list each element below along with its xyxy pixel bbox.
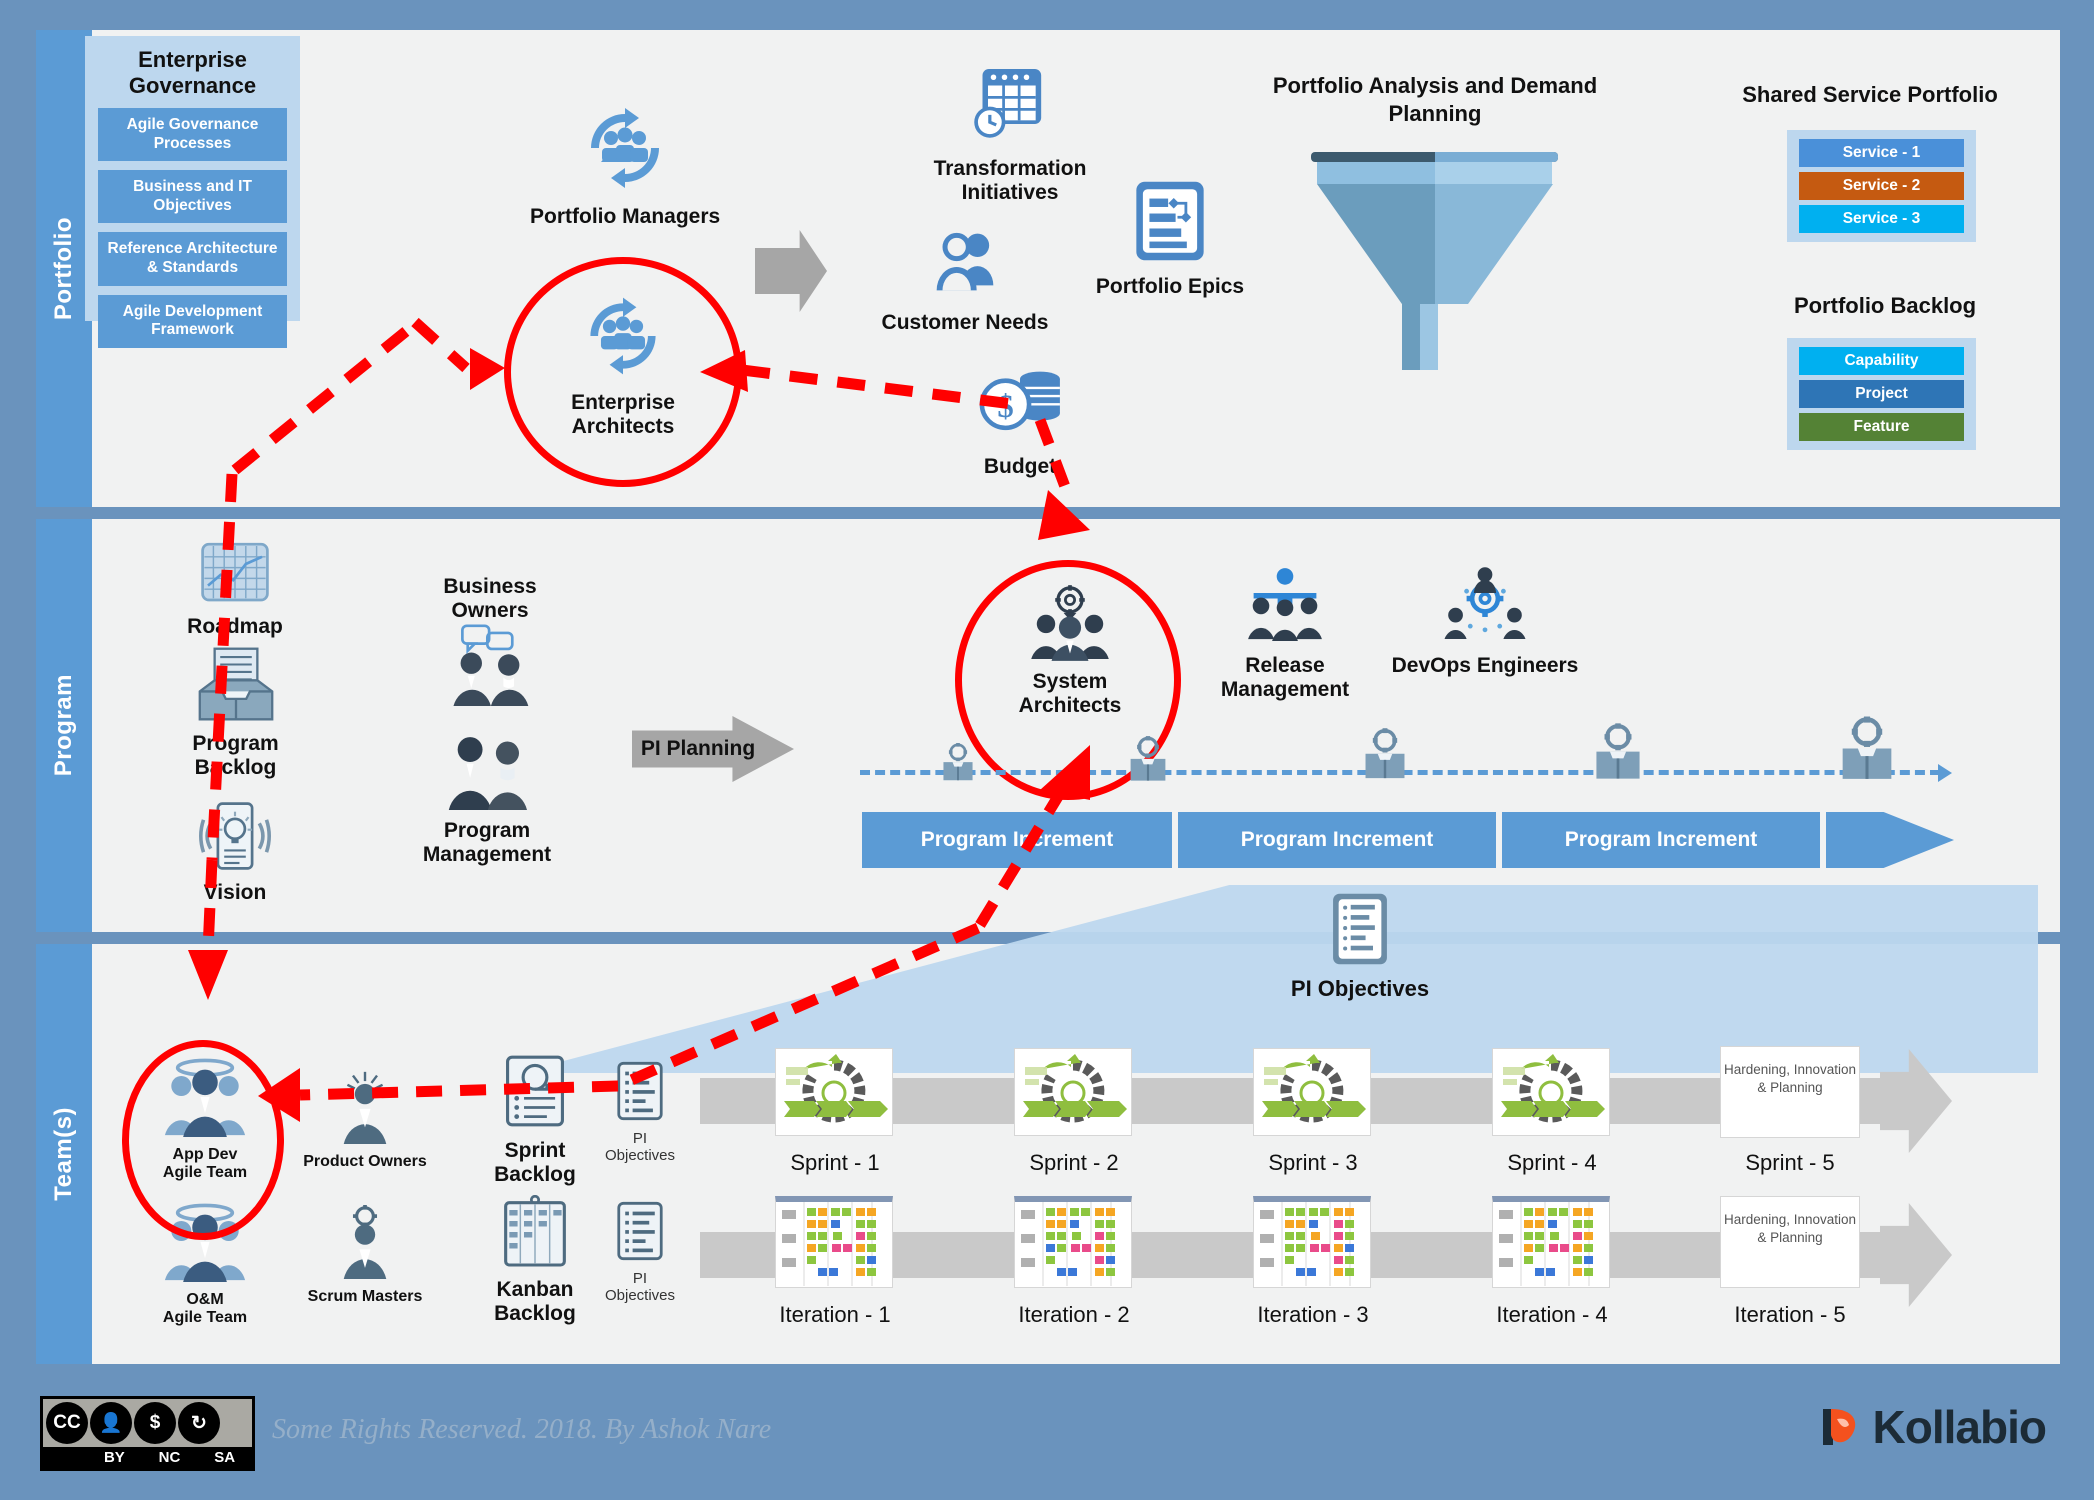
release-marker-2 (1115, 735, 1181, 790)
kollabio-mark-icon (1819, 1405, 1863, 1449)
kanban-thumbnail-icon (776, 1202, 892, 1286)
cc-label-nc: NC (159, 1449, 181, 1466)
node-label-kanban-backlog: Kanban Backlog (465, 1278, 605, 1325)
brand-logo: Kollabio (1819, 1400, 2046, 1454)
node-label-portfolio-epics: Portfolio Epics (1095, 275, 1245, 299)
kanban-thumbnail-icon (1254, 1202, 1370, 1286)
node-app-dev-agile-team[interactable]: App Dev Agile Team (135, 1055, 275, 1182)
iteration-label-5: Iteration - 5 (1690, 1302, 1890, 1328)
node-pi-objectives-sprint[interactable]: PI Objectives (590, 1060, 690, 1165)
demand-funnel-icon (1311, 152, 1558, 370)
calendar-clock-icon (966, 58, 1054, 146)
attribution-icon: 👤 (90, 1402, 132, 1444)
scrum-cycle-icon (1254, 1049, 1370, 1135)
node-label-devops-engineers: DevOps Engineers (1390, 654, 1580, 678)
cc-label-sa: SA (214, 1449, 235, 1466)
program-increment-1[interactable]: Program Increment (862, 812, 1172, 868)
sprint-card-3[interactable] (1253, 1048, 1371, 1136)
node-devops-engineers[interactable]: DevOps Engineers (1380, 565, 1590, 678)
creative-commons-badge[interactable]: CC 👤 $ ↻ BY NC SA (40, 1396, 255, 1471)
two-people-chat-icon (440, 624, 540, 706)
program-increment-2[interactable]: Program Increment (1178, 812, 1496, 868)
lane-label-portfolio: Portfolio (36, 30, 92, 507)
node-label-pi-objectives-sprint: PI Objectives (590, 1131, 690, 1165)
scrum-master-icon (334, 1205, 396, 1279)
node-kanban-backlog[interactable]: Kanban Backlog (460, 1195, 610, 1325)
release-marker-5 (1822, 715, 1912, 790)
iteration-card-1[interactable] (775, 1196, 893, 1288)
node-label-roadmap: Roadmap (150, 615, 320, 639)
sprint-label-5: Sprint - 5 (1690, 1150, 1890, 1176)
copyright-text: Some Rights Reserved. 2018. By Ashok Nar… (272, 1414, 771, 1446)
cc-label-by: BY (104, 1449, 125, 1466)
node-program-management[interactable]: Program Management (372, 730, 602, 866)
lane-label-program: Program (36, 519, 92, 932)
agile-team-icon (150, 1055, 260, 1137)
document-flow-icon (1132, 178, 1208, 264)
node-pi-objectives-iteration[interactable]: PI Objectives (590, 1200, 690, 1305)
node-label-app-dev-agile-team: App Dev Agile Team (135, 1146, 275, 1182)
release-package-icon (1588, 722, 1648, 784)
sprint-card-5-text: Hardening, Innovation & Planning (1721, 1047, 1859, 1097)
node-label-sprint-backlog: Sprint Backlog (470, 1139, 600, 1186)
program-increment-3[interactable]: Program Increment (1502, 812, 1820, 868)
sprint-label-3: Sprint - 3 (1213, 1150, 1413, 1176)
node-scrum-masters[interactable]: Scrum Masters (290, 1205, 440, 1306)
coins-dollar-icon: $ (974, 368, 1066, 446)
iteration-label-4: Iteration - 4 (1452, 1302, 1652, 1328)
svg-text:$: $ (997, 389, 1013, 425)
node-product-owners[interactable]: Product Owners (290, 1070, 440, 1171)
sprint-label-2: Sprint - 2 (974, 1150, 1174, 1176)
node-program-backlog[interactable]: Program Backlog (148, 645, 323, 779)
lane-label-team-text: Team(s) (50, 1107, 78, 1201)
node-system-architects[interactable]: System Architects (975, 585, 1165, 717)
sprint-label-1: Sprint - 1 (735, 1150, 935, 1176)
node-roadmap[interactable]: Roadmap (150, 540, 320, 639)
iteration-card-2[interactable] (1014, 1196, 1132, 1288)
release-train-arrow-tip (1938, 764, 1952, 782)
two-people-icon (437, 730, 537, 810)
portfolio-analysis-title: Portfolio Analysis and Demand Planning (1270, 72, 1600, 127)
node-label-enterprise-architects: Enterprise Architects (548, 391, 698, 438)
release-package-icon (938, 742, 978, 784)
portfolio-backlog-item-capability[interactable]: Capability (1799, 347, 1964, 375)
node-label-scrum-masters: Scrum Masters (290, 1288, 440, 1306)
portfolio-backlog-title: Portfolio Backlog (1760, 293, 2010, 319)
node-label-product-owners: Product Owners (290, 1153, 440, 1171)
node-label-customer-needs: Customer Needs (855, 311, 1075, 335)
node-budget[interactable]: $ Budget (930, 368, 1110, 479)
iteration-card-5-text: Hardening, Innovation & Planning (1721, 1197, 1859, 1247)
shared-service-item-2[interactable]: Service - 2 (1799, 172, 1964, 200)
portfolio-backlog-panel: Capability Project Feature (1787, 338, 1976, 450)
node-business-owners[interactable]: Business Owners (395, 575, 585, 711)
node-label-system-architects: System Architects (985, 670, 1155, 717)
node-label-vision: Vision (160, 881, 310, 905)
node-enterprise-architects[interactable]: Enterprise Architects (528, 290, 718, 438)
enterprise-governance-panel: Enterprise Governance Agile Governance P… (85, 36, 300, 321)
kanban-thumbnail-icon (1015, 1202, 1131, 1286)
node-label-pi-objectives: PI Objectives (1250, 977, 1470, 1002)
governance-item-agile-processes[interactable]: Agile Governance Processes (98, 108, 287, 161)
shared-service-portfolio-panel: Service - 1 Service - 2 Service - 3 (1787, 130, 1976, 242)
shared-service-item-1[interactable]: Service - 1 (1799, 139, 1964, 167)
scrum-cycle-icon (1015, 1049, 1131, 1135)
release-package-icon (1124, 735, 1172, 785)
iteration-label-3: Iteration - 3 (1213, 1302, 1413, 1328)
shared-service-portfolio-title: Shared Service Portfolio (1720, 82, 2020, 108)
portfolio-backlog-item-feature[interactable]: Feature (1799, 413, 1964, 441)
sprint-card-2[interactable] (1014, 1048, 1132, 1136)
sprint-card-5-hip[interactable]: Hardening, Innovation & Planning (1720, 1046, 1860, 1138)
sprint-label-4: Sprint - 4 (1452, 1150, 1652, 1176)
iteration-label-1: Iteration - 1 (735, 1302, 935, 1328)
governance-item-agile-dev-framework[interactable]: Agile Development Framework (98, 295, 287, 348)
pi-objectives-doc-icon (616, 1060, 664, 1122)
release-marker-1 (930, 742, 986, 789)
vision-bulb-icon (198, 800, 272, 872)
node-vision[interactable]: Vision (160, 800, 310, 905)
people-cycle-icon (577, 290, 669, 382)
lane-label-program-text: Program (50, 674, 78, 776)
node-customer-needs[interactable]: Customer Needs (855, 222, 1075, 335)
node-release-management[interactable]: Release Management (1170, 565, 1400, 701)
node-label-pi-objectives-iteration: PI Objectives (590, 1271, 690, 1305)
node-label-portfolio-managers: Portfolio Managers (530, 205, 720, 229)
iteration-card-3[interactable] (1253, 1196, 1371, 1288)
node-label-program-management: Program Management (382, 819, 592, 866)
release-package-icon (1833, 715, 1901, 785)
lane-label-team: Team(s) (36, 944, 92, 1364)
release-marker-4 (1578, 722, 1658, 789)
kanban-thumbnail-icon (1493, 1202, 1609, 1286)
release-package-icon (1358, 727, 1412, 783)
lane-label-portfolio-text: Portfolio (50, 217, 78, 320)
node-sprint-backlog[interactable]: Sprint Backlog (460, 1052, 610, 1186)
people-cycle-icon (577, 100, 673, 196)
pi-objectives-doc-icon (1329, 890, 1391, 968)
devops-gear-icon (1439, 565, 1531, 645)
node-label-business-owners: Business Owners (405, 575, 575, 622)
sprint-card-4[interactable] (1492, 1048, 1610, 1136)
node-label-release-management: Release Management (1180, 654, 1390, 701)
governance-item-reference-architecture[interactable]: Reference Architecture & Standards (98, 232, 287, 285)
sharealike-icon: ↻ (178, 1402, 220, 1444)
iteration-label-2: Iteration - 2 (974, 1302, 1174, 1328)
pi-objectives-doc-icon (616, 1200, 664, 1262)
brand-name-text: Kollabio (1873, 1400, 2046, 1454)
kanban-board-icon (502, 1195, 568, 1269)
node-portfolio-epics[interactable]: Portfolio Epics (1080, 178, 1260, 299)
enterprise-governance-title: Enterprise Governance (85, 36, 300, 99)
users-icon (924, 222, 1006, 302)
sprint-card-1[interactable] (775, 1048, 893, 1136)
inbox-stack-icon (194, 645, 278, 723)
release-marker-3 (1348, 727, 1422, 788)
portfolio-backlog-item-project[interactable]: Project (1799, 380, 1964, 408)
governance-item-business-it-objectives[interactable]: Business and IT Objectives (98, 170, 287, 223)
node-portfolio-managers[interactable]: Portfolio Managers (530, 100, 720, 229)
cc-badge-labels: BY NC SA (43, 1447, 252, 1468)
pi-planning-label: PI Planning (641, 737, 755, 761)
scrum-cycle-icon (1493, 1049, 1609, 1135)
diagram-canvas: Portfolio Enterprise Governance Agile Go… (0, 0, 2094, 1500)
iteration-card-4[interactable] (1492, 1196, 1610, 1288)
node-label-budget: Budget (930, 455, 1110, 479)
noncommercial-icon: $ (134, 1402, 176, 1444)
cc-badge-icons: CC 👤 $ ↻ (43, 1399, 252, 1447)
team-lead-icon (1237, 565, 1333, 645)
roadmap-grid-icon (199, 540, 271, 606)
sprint-backlog-icon (503, 1052, 567, 1130)
iteration-card-5-hip[interactable]: Hardening, Innovation & Planning (1720, 1196, 1860, 1288)
node-label-om-agile-team: O&M Agile Team (135, 1291, 275, 1327)
scrum-cycle-icon (776, 1049, 892, 1135)
shared-service-item-3[interactable]: Service - 3 (1799, 205, 1964, 233)
node-label-program-backlog: Program Backlog (161, 732, 311, 779)
cc-icon: CC (46, 1402, 88, 1444)
product-owner-icon (334, 1070, 396, 1144)
node-pi-objectives[interactable]: PI Objectives (1250, 890, 1470, 1002)
team-gear-icon (1022, 585, 1118, 661)
